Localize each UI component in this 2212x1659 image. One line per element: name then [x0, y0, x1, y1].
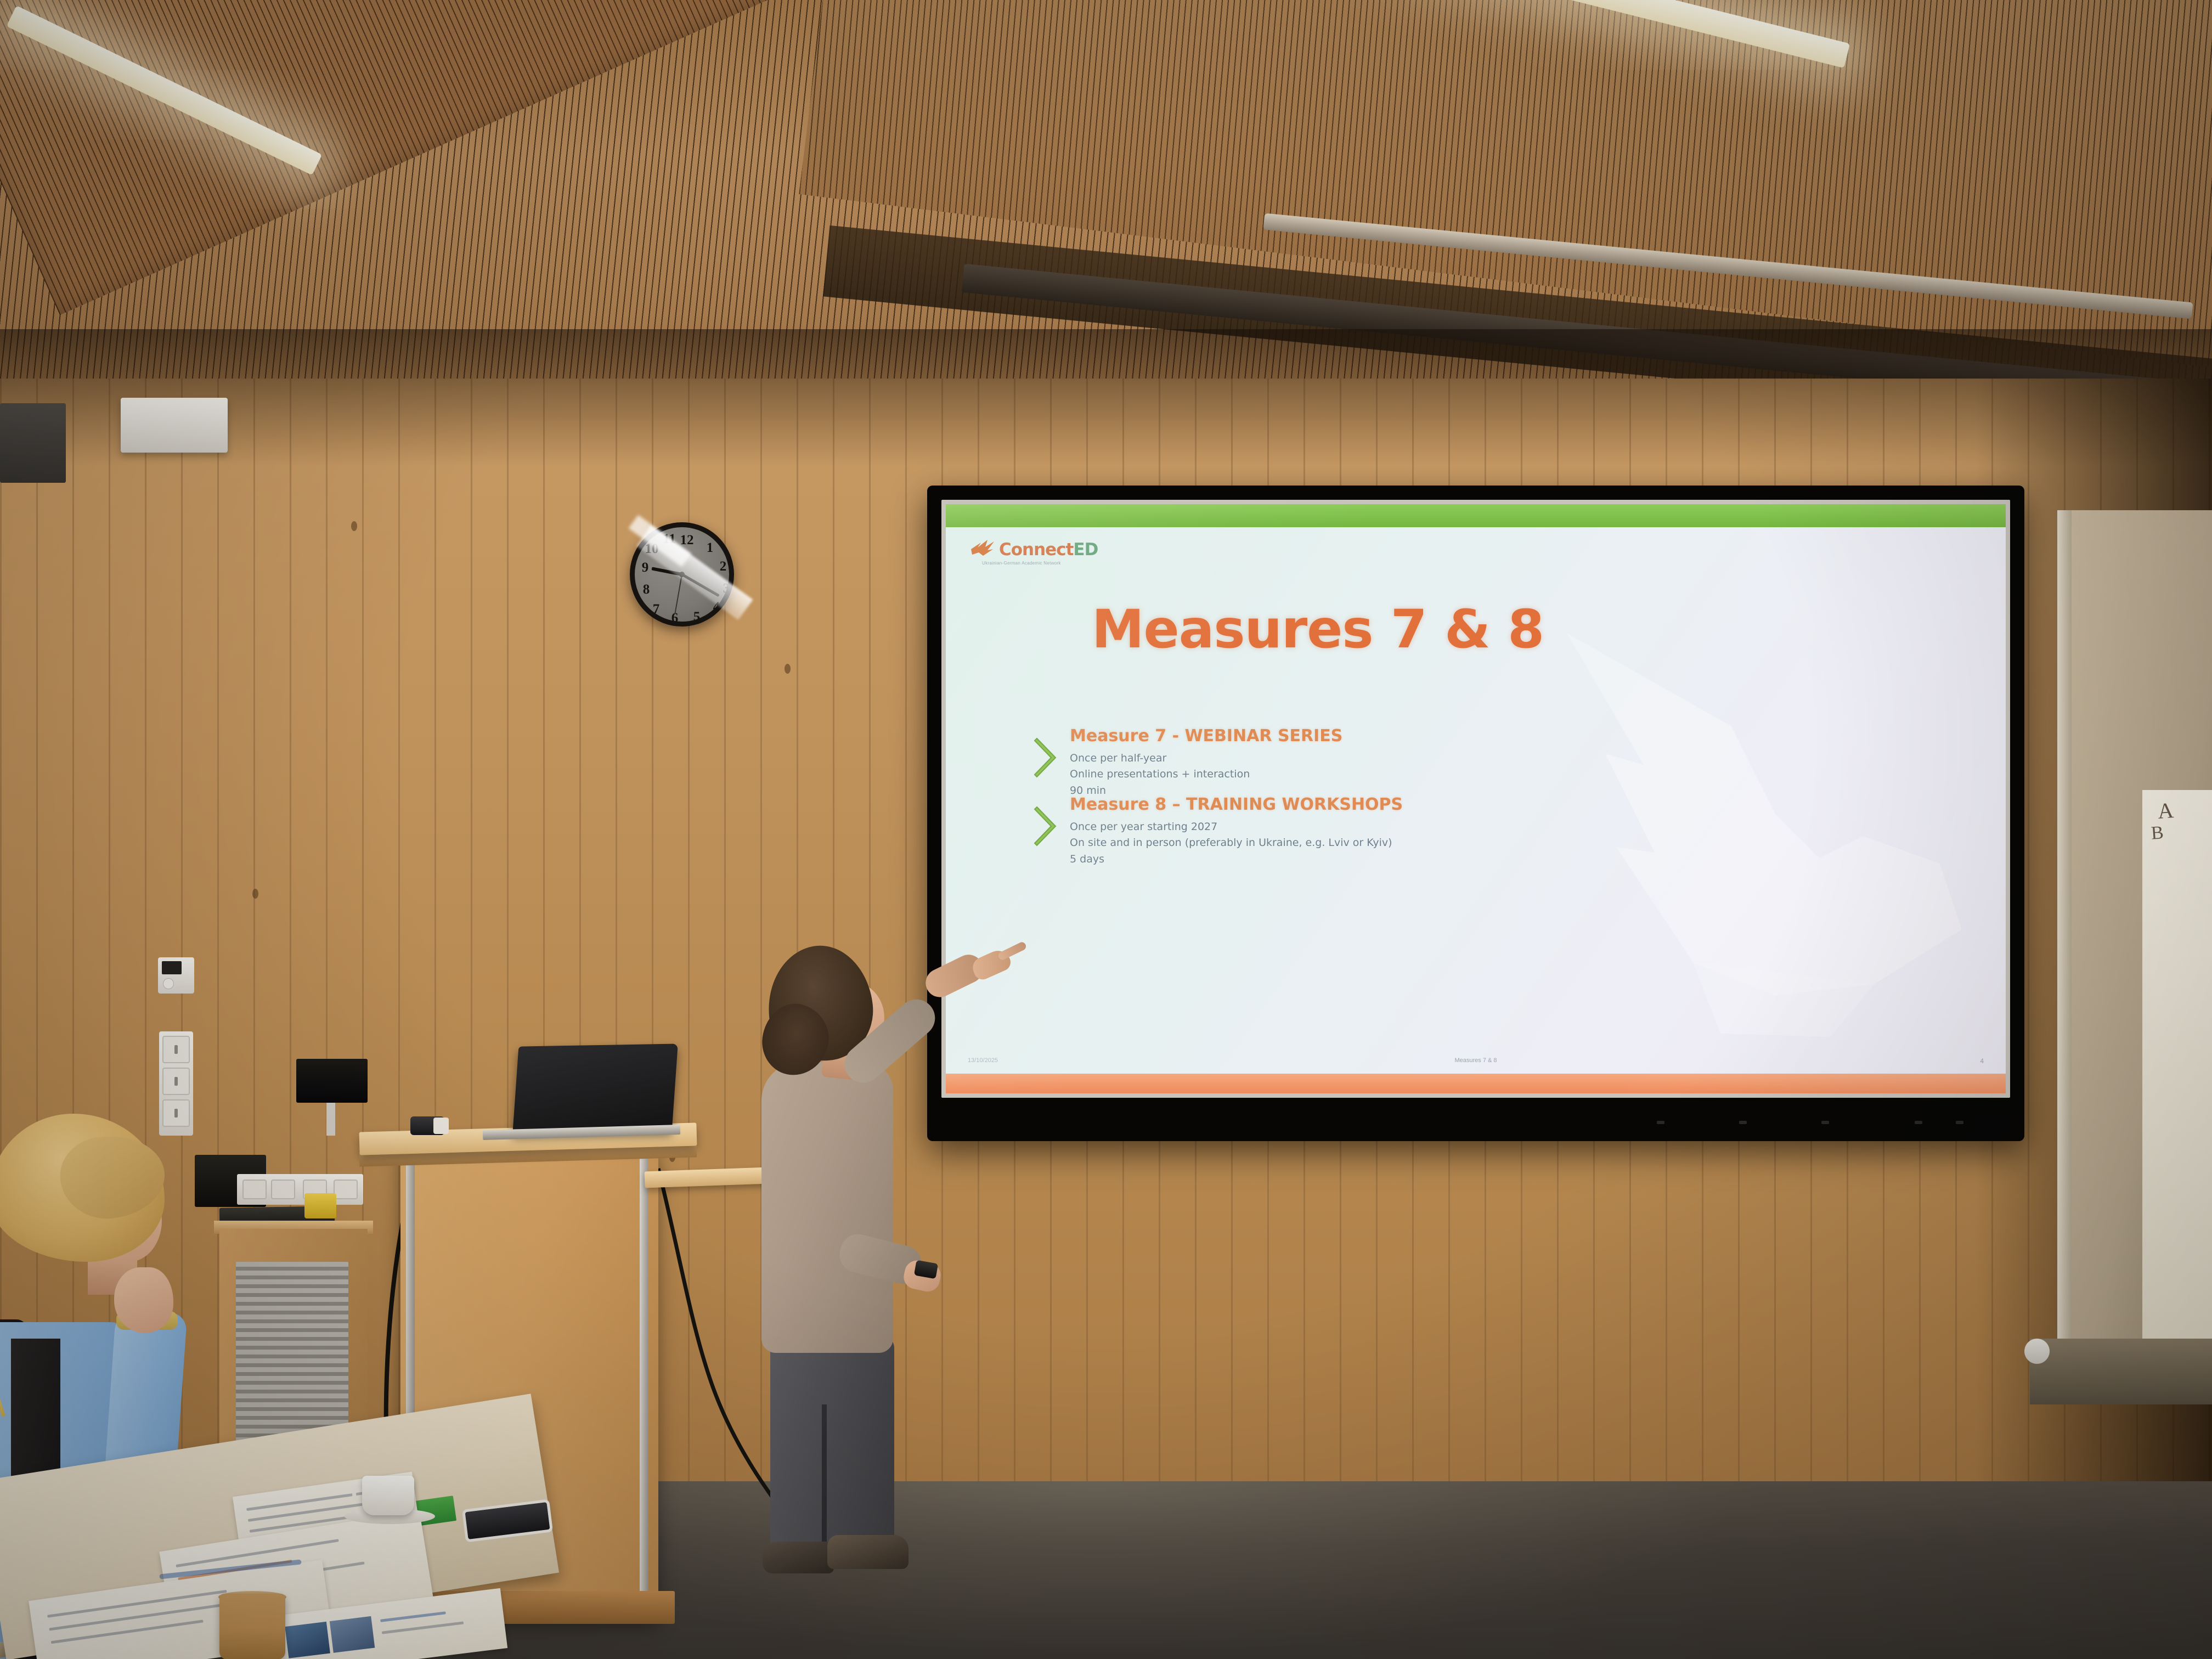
measure-7-heading: Measure 7 - WEBINAR SERIES	[1070, 726, 1342, 746]
wall-clock: 12 1 2 3 4 5 6 7 8 9 10 11	[630, 522, 734, 627]
conference-room-scene: 12 1 2 3 4 5 6 7 8 9 10 11	[0, 0, 2212, 1659]
measure-7-block: Measure 7 - WEBINAR SERIES Once per half…	[1034, 726, 1342, 799]
clock-numeral: 8	[638, 582, 654, 597]
clock-numeral: 2	[715, 559, 731, 574]
clock-numeral: 9	[637, 560, 653, 575]
paper-cup-brown[interactable]	[219, 1594, 285, 1659]
power-socket[interactable]	[162, 1068, 190, 1095]
presenter-standing	[757, 933, 988, 1585]
measure-8-line: Once per year starting 2027	[1070, 819, 1403, 835]
measure-8-line: 5 days	[1070, 851, 1403, 867]
ceiling-speaker-icon	[0, 403, 66, 483]
flipchart-base	[2030, 1339, 2212, 1404]
thermostat-screen	[162, 961, 182, 974]
clock-second-hand	[674, 574, 682, 614]
slide-title: Measures 7 & 8	[1092, 599, 1544, 660]
logo-ed-text: ED	[1073, 540, 1098, 560]
chevron-right-icon	[1034, 736, 1059, 779]
bird-icon	[969, 538, 996, 561]
lectern-rail-right	[640, 1147, 648, 1618]
slide-footer-title: Measures 7 & 8	[1454, 1057, 1497, 1064]
slide-page-number: 4	[1980, 1057, 1984, 1065]
dove-watermark-icon	[1501, 600, 1984, 1039]
flipchart-paper: A B	[2142, 790, 2212, 1355]
presenter-shoe-right	[827, 1535, 909, 1569]
display-control-buttons[interactable]	[1657, 1119, 1997, 1126]
measure-8-heading: Measure 8 – TRAINING WORKSHOPS	[1070, 795, 1403, 814]
slide-bottom-bar	[946, 1074, 2006, 1093]
flipchart-edge	[2057, 510, 2072, 1388]
power-plug	[433, 1118, 449, 1134]
clock-numeral: 5	[689, 610, 705, 625]
presenter-legs	[770, 1333, 894, 1553]
connected-logo: ConnectED	[969, 538, 1098, 561]
attendee-hand	[114, 1267, 173, 1333]
chevron-right-icon	[1034, 805, 1059, 848]
clock-numeral: 1	[702, 540, 718, 556]
slide-top-bar	[946, 504, 2006, 527]
measure-7-line: Once per half-year	[1070, 751, 1342, 766]
logo-wordmark: ConnectED	[999, 540, 1098, 560]
thermostat[interactable]	[158, 957, 194, 994]
coffee-cup-white[interactable]	[362, 1476, 414, 1515]
clock-numeral: 7	[648, 602, 664, 617]
measure-8-block: Measure 8 – TRAINING WORKSHOPS Once per …	[1034, 795, 1403, 867]
presenter-leg-seam	[822, 1404, 827, 1553]
power-socket[interactable]	[162, 1036, 190, 1063]
logo-tagline: Ukrainian-German Academic Network	[982, 561, 1061, 566]
measure-7-line: Online presentations + interaction	[1070, 766, 1342, 782]
small-wall-panel	[296, 1059, 368, 1103]
display-panel: ConnectED Ukrainian-German Academic Netw…	[941, 500, 2010, 1098]
wall-speaker-box	[121, 398, 228, 453]
slide-footer: 13/10/2025 Measures 7 & 8 4	[946, 1057, 2006, 1069]
presenter-torso	[761, 1062, 893, 1353]
floor-socket	[2024, 1339, 2050, 1364]
measure-7-text: Measure 7 - WEBINAR SERIES Once per half…	[1070, 726, 1342, 799]
thermostat-knob[interactable]	[163, 978, 174, 989]
laptop-screen[interactable]	[512, 1043, 678, 1134]
wall-top-shadow	[0, 379, 2212, 466]
measure-8-text: Measure 8 – TRAINING WORKSHOPS Once per …	[1070, 795, 1403, 867]
wall-display[interactable]: ConnectED Ukrainian-German Academic Netw…	[927, 486, 2024, 1141]
measure-8-line: On site and in person (preferably in Ukr…	[1070, 835, 1403, 851]
logo-connect-text: Connect	[999, 540, 1073, 560]
presentation-slide: ConnectED Ukrainian-German Academic Netw…	[946, 504, 2006, 1093]
presenter-shoe-left	[763, 1542, 834, 1573]
